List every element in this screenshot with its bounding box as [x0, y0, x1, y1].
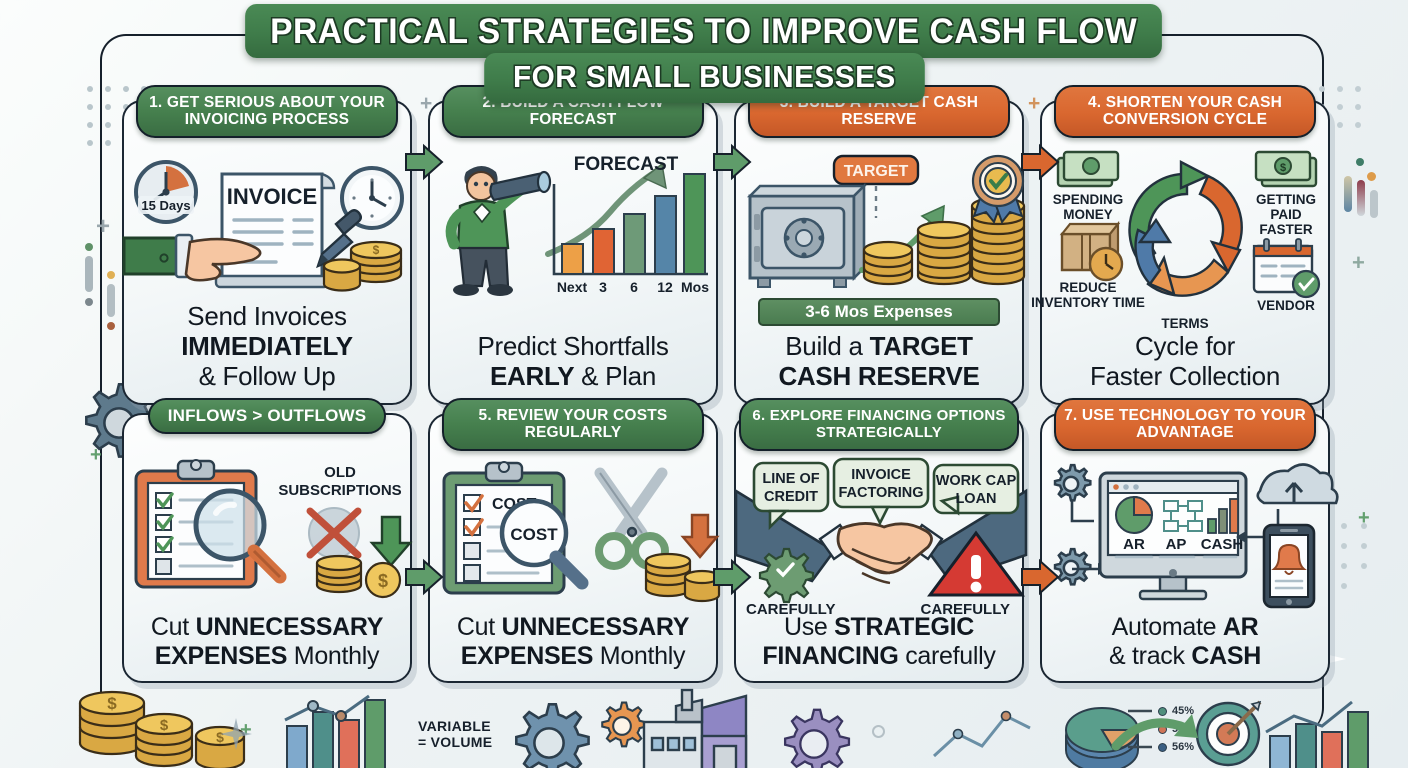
bubble-invoice-factoring: INVOICE FACTORING — [834, 459, 928, 523]
svg-text:Next: Next — [557, 279, 588, 295]
card-5-artwork: OLD SUBSCRIPTIONS — [124, 455, 410, 597]
card-7-header: 6. EXPLORE FINANCING OPTIONS STRATEGICAL… — [739, 398, 1019, 451]
deco-bar-grey-left — [85, 256, 93, 292]
svg-text:REDUCE: REDUCE — [1059, 280, 1116, 295]
card-6-header: 5. REVIEW YOUR COSTS REGULARLY — [442, 398, 704, 451]
deco-bar-1-right — [1344, 176, 1352, 212]
card-8-header: 7. USE TECHNOLOGY TO YOUR ADVANTAGE — [1054, 398, 1316, 451]
deco-circle-outline — [872, 725, 885, 738]
scissors-icon — [599, 473, 665, 566]
svg-text:$: $ — [378, 571, 388, 591]
target-label-badge: TARGET — [834, 156, 918, 184]
arrow-connector-2-3 — [712, 145, 752, 179]
card-5-caption: Cut UNNECESSARY EXPENSES Monthly — [134, 613, 400, 671]
gear-icon-bottom-purple — [776, 706, 852, 768]
decrease-arrow-icon — [372, 517, 410, 565]
card-inflows-outflows[interactable]: INFLOWS > OUTFLOWS — [122, 413, 412, 683]
card-target-cash-reserve[interactable]: 3. BUILD A TARGET CASH RESERVE TARGET — [734, 100, 1024, 405]
svg-text:SPENDING: SPENDING — [1053, 192, 1124, 207]
monitor-dashboard-icon: ARAPCASH — [1100, 473, 1246, 599]
svg-text:TARGET: TARGET — [844, 163, 909, 180]
inventory-box-icon — [1062, 224, 1122, 280]
cycle-arrow-decoration-bottom — [1106, 706, 1336, 766]
card-4-artwork: SPENDING MONEY $ GETTING PAID FASTER — [1042, 146, 1328, 322]
svg-text:3: 3 — [599, 279, 607, 295]
deco-bar-3-right — [1370, 190, 1378, 218]
coin-stack-small — [864, 242, 912, 284]
plus-mark-right-lower: + — [1358, 508, 1370, 528]
svg-text:COST: COST — [510, 525, 558, 544]
svg-text:INVOICE: INVOICE — [227, 184, 317, 209]
person-telescope-icon — [451, 166, 550, 296]
expenses-band: 3-6 Mos Expenses — [758, 298, 1000, 326]
vendor-terms-icon — [1254, 239, 1319, 297]
arrow-connector-1-2 — [404, 145, 444, 179]
cards-row-bottom: INFLOWS > OUTFLOWS — [122, 413, 1336, 683]
svg-text:$: $ — [107, 694, 117, 713]
svg-text:FASTER: FASTER — [1259, 222, 1313, 237]
svg-text:CASH: CASH — [1201, 536, 1244, 553]
svg-text:FACTORING: FACTORING — [838, 485, 923, 501]
money-received-icon: $ — [1256, 152, 1316, 186]
card-7-caption: Use STRATEGIC FINANCING carefully — [746, 613, 1012, 671]
money-spending-icon — [1058, 152, 1118, 186]
deco-bar-grey2-left — [107, 284, 115, 317]
forecast-chart-label: FORECAST — [574, 154, 679, 175]
card-7-artwork: LINE OF CREDIT INVOICE FACTORING WORK CA… — [736, 457, 1022, 607]
cycle-arrows — [1129, 162, 1241, 296]
card-3-artwork: TARGET — [736, 150, 1022, 302]
svg-text:$: $ — [216, 729, 224, 745]
deco-bar-2-right — [1357, 180, 1365, 216]
line-chart-decoration-bottom — [930, 700, 1040, 768]
svg-text:LOAN: LOAN — [955, 491, 996, 507]
card-8-caption: Automate AR & track CASH — [1052, 613, 1318, 671]
coin-stack-2-decoration: $ — [128, 690, 238, 768]
title-line-2: FOR SMALL BUSINESSES — [484, 53, 924, 103]
dot-grid-bottom-right — [1338, 520, 1398, 610]
card-cash-conversion-cycle[interactable]: 4. SHORTEN YOUR CASH CONVERSION CYCLE — [1040, 100, 1330, 405]
card-4-caption: Cycle for Faster Collection — [1052, 331, 1318, 391]
handshake-icon — [838, 523, 932, 583]
svg-text:CREDIT: CREDIT — [764, 489, 818, 505]
bar-chart-decoration-bottom-left — [283, 690, 413, 768]
infographic-title: PRACTICAL STRATEGIES TO IMPROVE CASH FLO… — [0, 4, 1408, 103]
plus-mark-left-top: + — [96, 215, 110, 239]
card-invoicing-process[interactable]: 1. GET SERIOUS ABOUT YOUR INVOICING PROC… — [122, 100, 412, 405]
arrow-connector-6-7 — [712, 560, 752, 594]
deco-dot-brown-left — [107, 322, 115, 330]
arrow-connector-7-8 — [1020, 560, 1060, 594]
svg-text:AR: AR — [1123, 536, 1145, 553]
deco-dot-green-left — [85, 243, 93, 251]
coin-stack-down-icon — [646, 554, 719, 601]
sparkle-decoration-left — [218, 716, 254, 752]
cancel-subscription-icon — [309, 508, 359, 558]
plus-mark-bottom-left: + — [240, 720, 252, 740]
svg-text:PAID: PAID — [1270, 207, 1302, 222]
svg-text:Mos: Mos — [681, 279, 709, 295]
card-review-costs[interactable]: 5. REVIEW YOUR COSTS REGULARLY COST — [428, 413, 718, 683]
svg-text:$: $ — [160, 717, 169, 734]
title-line-1: PRACTICAL STRATEGIES TO IMPROVE CASH FLO… — [245, 4, 1162, 58]
deco-dot-orange-right — [1367, 172, 1376, 181]
svg-text:$: $ — [373, 243, 380, 257]
card-1-artwork: 15 Days INVOICE — [124, 150, 410, 302]
invoice-document-icon: INVOICE — [216, 174, 334, 287]
card-2-artwork: FORECAST Next 3 6 12 — [430, 150, 716, 302]
card-1-caption: Send Invoices IMMEDIATELY & Follow Up — [134, 301, 400, 391]
svg-text:INVOICE: INVOICE — [851, 467, 911, 483]
mobile-alert-icon — [1264, 525, 1314, 607]
deco-dot-grey-left — [85, 298, 93, 306]
svg-text:GETTING: GETTING — [1256, 192, 1316, 207]
card-3-caption: Build a TARGET CASH RESERVE — [746, 331, 1012, 391]
forecast-axis-labels: Next 3 6 12 Mos — [557, 279, 709, 295]
svg-text:SUBSCRIPTIONS: SUBSCRIPTIONS — [278, 482, 401, 499]
deco-dot-green-right — [1356, 158, 1364, 166]
cards-grid: 1. GET SERIOUS ABOUT YOUR INVOICING PROC… — [122, 100, 1336, 683]
cloud-upload-icon — [1258, 464, 1338, 503]
factory-building-decoration — [636, 690, 776, 768]
card-financing-options[interactable]: 6. EXPLORE FINANCING OPTIONS STRATEGICAL… — [734, 413, 1024, 683]
gear-icon-bottom-orange — [596, 700, 648, 752]
plus-mark-left-bottom: + — [90, 445, 102, 465]
safe-icon — [750, 186, 864, 287]
cost-decrease-arrow-icon — [683, 515, 717, 557]
gear-icon-bottom-left — [1055, 549, 1090, 584]
card-use-technology[interactable]: 7. USE TECHNOLOGY TO YOUR ADVANTAGE — [1040, 413, 1330, 683]
card-2-caption: Predict Shortfalls EARLY & Plan — [440, 331, 706, 391]
coin-stack-medium — [918, 222, 970, 284]
variable-volume-note: VARIABLE = VOLUME — [418, 718, 492, 750]
plus-mark-right-mid: + — [1352, 252, 1365, 274]
clock-15-days-icon: 15 Days — [136, 162, 196, 222]
gear-icon-bottom-blue — [506, 700, 592, 768]
card-5-header: INFLOWS > OUTFLOWS — [148, 398, 386, 434]
expenses-band-label: 3-6 Mos Expenses — [805, 302, 952, 322]
svg-text:MONEY: MONEY — [1063, 207, 1113, 222]
svg-text:15 Days: 15 Days — [141, 198, 190, 213]
card-6-caption: Cut UNNECESSARY EXPENSES Monthly — [440, 613, 706, 671]
gear-check-icon — [760, 549, 813, 602]
arrow-connector-5-6 — [404, 560, 444, 594]
svg-text:OLD: OLD — [324, 464, 356, 481]
svg-text:6: 6 — [630, 279, 638, 295]
svg-text:12: 12 — [657, 279, 673, 295]
svg-text:$: $ — [1280, 162, 1286, 174]
dashboard-metric-labels: ARAPCASH — [1123, 536, 1243, 553]
svg-text:AP: AP — [1166, 536, 1187, 553]
card-6-artwork: COST COST — [430, 459, 716, 601]
card-8-artwork: ARAPCASH — [1042, 457, 1328, 609]
arrow-connector-3-4 — [1020, 145, 1060, 179]
svg-text:VENDOR: VENDOR — [1257, 298, 1315, 313]
gear-icon-top-left — [1055, 465, 1090, 500]
svg-text:LINE OF: LINE OF — [762, 471, 819, 487]
coin-stack-3-decoration: $ — [190, 712, 280, 768]
vendor-terms-label: TERMS — [1042, 316, 1328, 331]
award-badge-icon — [973, 156, 1023, 222]
svg-text:WORK CAP: WORK CAP — [936, 473, 1017, 489]
bubble-work-cap-loan: WORK CAP LOAN — [934, 465, 1018, 513]
svg-text:INVENTORY TIME: INVENTORY TIME — [1031, 295, 1145, 310]
deco-dot-gold-left — [107, 271, 115, 279]
card-cash-flow-forecast[interactable]: 2. BUILD A CASH FLOW FORECAST — [428, 100, 718, 405]
